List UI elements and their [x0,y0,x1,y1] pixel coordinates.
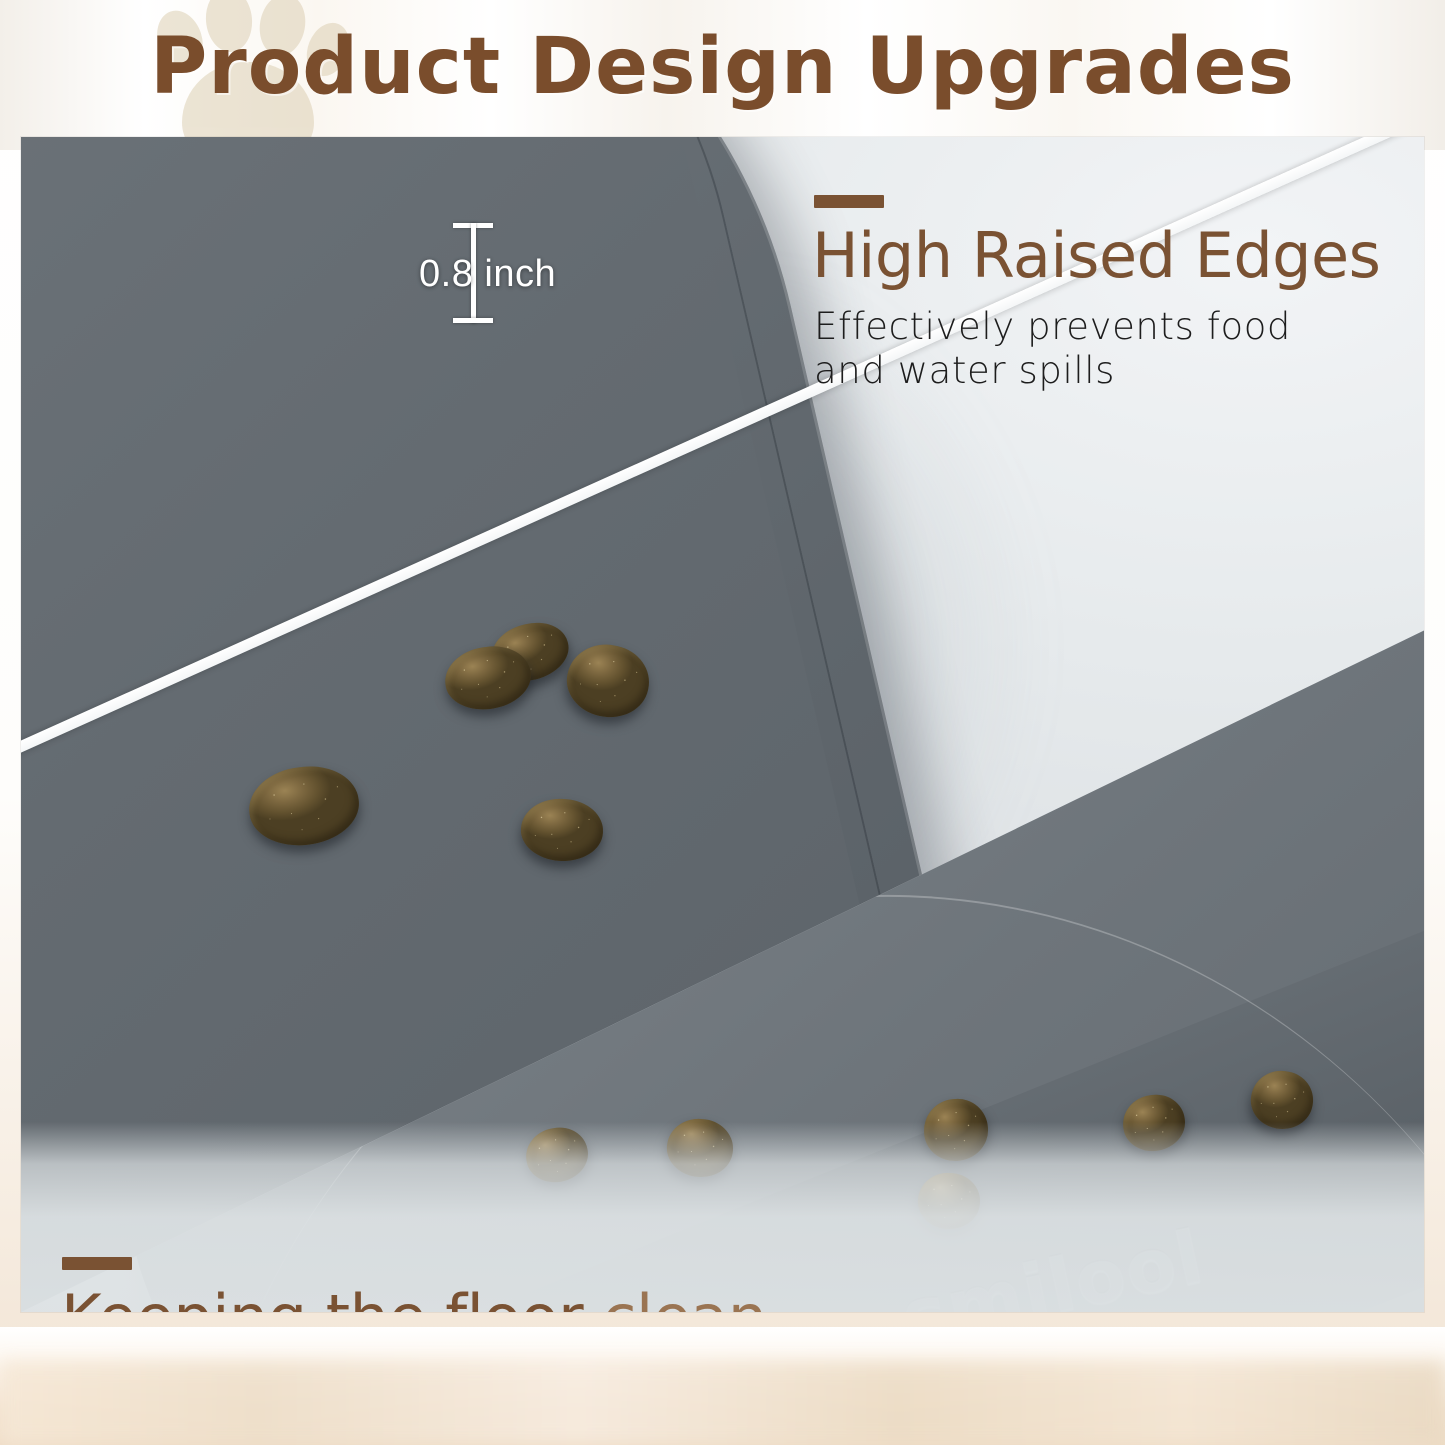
callout-dash-bottom [62,1257,132,1270]
callout-title-accent: clean [583,1281,766,1312]
callout-dash-top [814,195,884,208]
callout-title-strong: Keeping the floor [61,1281,583,1312]
callout-subtitle-high-raised-edges: Effectively prevents food and water spil… [814,305,1291,392]
callout-subtitle-line2: and water spills [814,349,1291,393]
product-photo-panel: smilool 0.8 inch High Raised Edges Effec… [21,137,1424,1312]
callout-subtitle-line1: Effectively prevents food [814,305,1291,349]
backdrop-bottom [0,1327,1445,1445]
page-title: Product Design Upgrades [0,22,1445,112]
dimension-label: 0.8 inch [419,253,556,296]
callout-title-keeping-floor-clean: Keeping the floor clean [61,1281,767,1312]
callout-title-high-raised-edges: High Raised Edges [812,219,1380,292]
infographic-canvas: Product Design Upgrades smilool [0,0,1445,1445]
dimension-cap-bottom [453,318,493,323]
